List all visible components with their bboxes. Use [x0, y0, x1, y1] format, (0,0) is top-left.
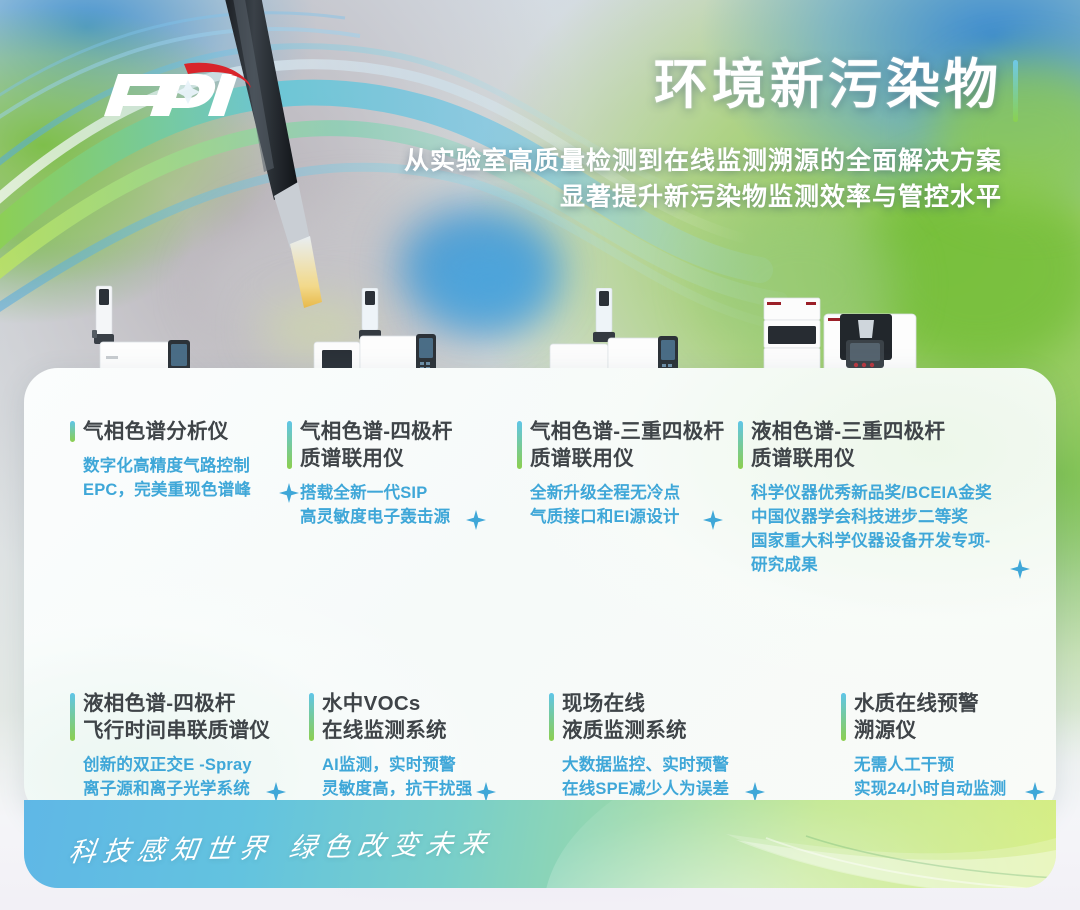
product-title-line: 质谱联用仪 — [751, 445, 992, 472]
sparkle-icon — [466, 510, 486, 530]
product-description: 搭载全新一代SIP 高灵敏度电子轰击源 — [287, 482, 453, 530]
product-desc-line: AI监测，实时预警 — [322, 754, 472, 778]
product-title-line: 飞行时间串联质谱仪 — [83, 717, 270, 744]
products-grid: 气相色谱分析仪 数字化高精度气路控制 EPC，完美重现色谱峰 气相色谱-四极杆 … — [24, 368, 1056, 818]
product-title: 气相色谱-三重四极杆 质谱联用仪 — [517, 418, 724, 472]
fpi-logo — [88, 58, 268, 128]
product-description: 全新升级全程无冷点 气质接口和EI源设计 — [517, 482, 724, 530]
hero-subtitle: 从实验室高质量检测到在线监测溯源的全面解决方案 显著提升新污染物监测效率与管控水… — [404, 144, 1002, 215]
product-desc-line: 科学仪器优秀新品奖/BCEIA金奖 — [751, 482, 992, 506]
product-desc-line: 大数据监控、实时预警 — [562, 754, 729, 778]
product-desc-line: 无需人工干预 — [854, 754, 1006, 778]
product-card-lc-msms[interactable]: 液相色谱-三重四极杆 质谱联用仪 科学仪器优秀新品奖/BCEIA金奖 中国仪器学… — [738, 418, 992, 578]
product-card-gc-ms[interactable]: 气相色谱-四极杆 质谱联用仪 搭载全新一代SIP 高灵敏度电子轰击源 — [287, 418, 453, 530]
product-description: AI监测，实时预警 灵敏度高，抗干扰强 — [309, 754, 472, 802]
product-title-line: 水质在线预警 — [854, 690, 1006, 717]
sparkle-icon — [703, 510, 723, 530]
product-description: 数字化高精度气路控制 EPC，完美重现色谱峰 — [70, 455, 251, 503]
poster-root: 环境新污染物 从实验室高质量检测到在线监测溯源的全面解决方案 显著提升新污染物监… — [0, 0, 1080, 910]
products-panel: 气相色谱分析仪 数字化高精度气路控制 EPC，完美重现色谱峰 气相色谱-四极杆 … — [24, 368, 1056, 818]
product-title-line: 质谱联用仪 — [530, 445, 724, 472]
product-desc-line: 中国仪器学会科技进步二等奖 — [751, 506, 992, 530]
product-description: 创新的双正交E -Spray 离子源和离子光学系统 — [70, 754, 270, 802]
product-card-lc-qtof[interactable]: 液相色谱-四极杆 飞行时间串联质谱仪 创新的双正交E -Spray 离子源和离子… — [70, 690, 270, 802]
product-desc-line: 国家重大科学仪器设备开发专项- — [751, 530, 992, 554]
product-desc-line: 全新升级全程无冷点 — [530, 482, 724, 506]
product-title-line: 水中VOCs — [322, 690, 472, 717]
product-desc-line: 搭载全新一代SIP — [300, 482, 453, 506]
product-title-line: 气相色谱-四极杆 — [300, 418, 453, 445]
product-title-line: 液相色谱-三重四极杆 — [751, 418, 992, 445]
product-title-line: 在线监测系统 — [322, 717, 472, 744]
product-description: 大数据监控、实时预警 在线SPE减少人为误差 — [549, 754, 729, 802]
product-desc-line: 研究成果 — [751, 554, 992, 578]
title-accent-bar — [1013, 60, 1018, 122]
footer-band: 科技感知世界 绿色改变未来 — [24, 800, 1056, 888]
product-desc-line: 气质接口和EI源设计 — [530, 506, 724, 530]
footer-slogan: 科技感知世界 绿色改变未来 — [67, 822, 497, 870]
product-card-vocs[interactable]: 水中VOCs 在线监测系统 AI监测，实时预警 灵敏度高，抗干扰强 — [309, 690, 472, 802]
product-title-line: 气相色谱-三重四极杆 — [530, 418, 724, 445]
product-desc-line: 实现24小时自动监测 — [854, 778, 1006, 802]
product-desc-line: EPC，完美重现色谱峰 — [83, 479, 251, 503]
product-desc-line: 数字化高精度气路控制 — [83, 455, 251, 479]
product-title-line: 溯源仪 — [854, 717, 1006, 744]
product-title: 现场在线 液质监测系统 — [549, 690, 729, 744]
product-desc-line: 创新的双正交E -Spray — [83, 754, 270, 778]
hero-subtitle-line-2: 显著提升新污染物监测效率与管控水平 — [404, 180, 1002, 216]
sparkle-icon — [1010, 559, 1030, 579]
product-desc-line: 高灵敏度电子轰击源 — [300, 506, 453, 530]
product-description: 无需人工干预 实现24小时自动监测 — [841, 754, 1006, 802]
product-title-line: 液质监测系统 — [562, 717, 729, 744]
hero-subtitle-line-1: 从实验室高质量检测到在线监测溯源的全面解决方案 — [404, 144, 1002, 180]
product-description: 科学仪器优秀新品奖/BCEIA金奖 中国仪器学会科技进步二等奖 国家重大科学仪器… — [738, 482, 992, 578]
product-desc-line: 灵敏度高，抗干扰强 — [322, 778, 472, 802]
page-title: 环境新污染物 — [654, 56, 1002, 115]
product-desc-line: 离子源和离子光学系统 — [83, 778, 270, 802]
product-desc-line: 在线SPE减少人为误差 — [562, 778, 729, 802]
footer-leaf-graphic — [436, 800, 1056, 888]
product-title-line: 现场在线 — [562, 690, 729, 717]
product-title-line: 气相色谱分析仪 — [83, 418, 251, 445]
product-card-gc[interactable]: 气相色谱分析仪 数字化高精度气路控制 EPC，完美重现色谱峰 — [70, 418, 251, 503]
product-title: 水质在线预警 溯源仪 — [841, 690, 1006, 744]
product-title: 气相色谱-四极杆 质谱联用仪 — [287, 418, 453, 472]
product-title-line: 质谱联用仪 — [300, 445, 453, 472]
product-title: 液相色谱-三重四极杆 质谱联用仪 — [738, 418, 992, 472]
product-title: 气相色谱分析仪 — [70, 418, 251, 445]
product-title: 液相色谱-四极杆 飞行时间串联质谱仪 — [70, 690, 270, 744]
product-title: 水中VOCs 在线监测系统 — [309, 690, 472, 744]
product-card-online-lcms[interactable]: 现场在线 液质监测系统 大数据监控、实时预警 在线SPE减少人为误差 — [549, 690, 729, 802]
product-card-water-warning[interactable]: 水质在线预警 溯源仪 无需人工干预 实现24小时自动监测 — [841, 690, 1006, 802]
product-card-gc-msms[interactable]: 气相色谱-三重四极杆 质谱联用仪 全新升级全程无冷点 气质接口和EI源设计 — [517, 418, 724, 530]
product-title-line: 液相色谱-四极杆 — [83, 690, 270, 717]
